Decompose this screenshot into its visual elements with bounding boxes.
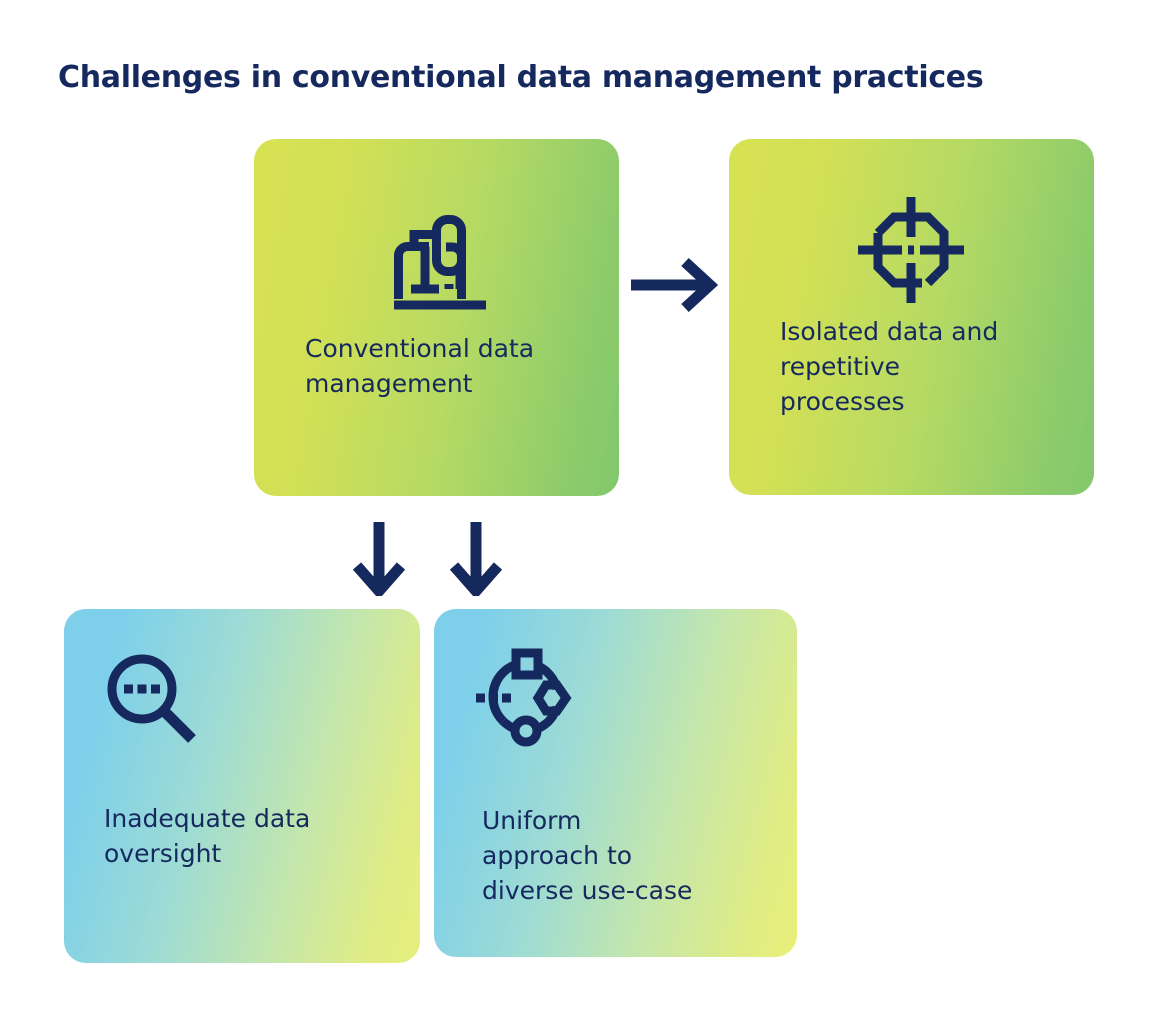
network-nodes-icon	[476, 647, 576, 747]
magnifier-dots-icon	[104, 651, 202, 749]
card-uniform-approach[interactable]: Uniform approach to diverse use-case	[434, 609, 797, 957]
card-label: Conventional data management	[305, 331, 605, 401]
page-title: Challenges in conventional data manageme…	[58, 60, 1108, 95]
arrow-down-icon	[353, 520, 405, 596]
arrow-down-icon	[450, 520, 502, 596]
card-conventional-data-management[interactable]: Conventional data management	[254, 139, 619, 496]
card-body: Inadequate data oversight	[64, 609, 420, 963]
arrow-right-icon	[629, 255, 719, 315]
card-label: Uniform approach to diverse use-case	[482, 803, 782, 908]
infographic-canvas: Challenges in conventional data manageme…	[0, 0, 1151, 1024]
card-body: Isolated data and repetitive processes	[729, 139, 1094, 495]
card-inadequate-oversight[interactable]: Inadequate data oversight	[64, 609, 420, 963]
factory-chart-icon	[394, 211, 486, 311]
crosshair-target-icon	[856, 195, 966, 305]
card-label: Inadequate data oversight	[104, 801, 404, 871]
card-label: Isolated data and repetitive processes	[780, 314, 1080, 419]
card-body: Conventional data management	[254, 139, 619, 496]
card-body: Uniform approach to diverse use-case	[434, 609, 797, 957]
card-isolated-data[interactable]: Isolated data and repetitive processes	[729, 139, 1094, 495]
